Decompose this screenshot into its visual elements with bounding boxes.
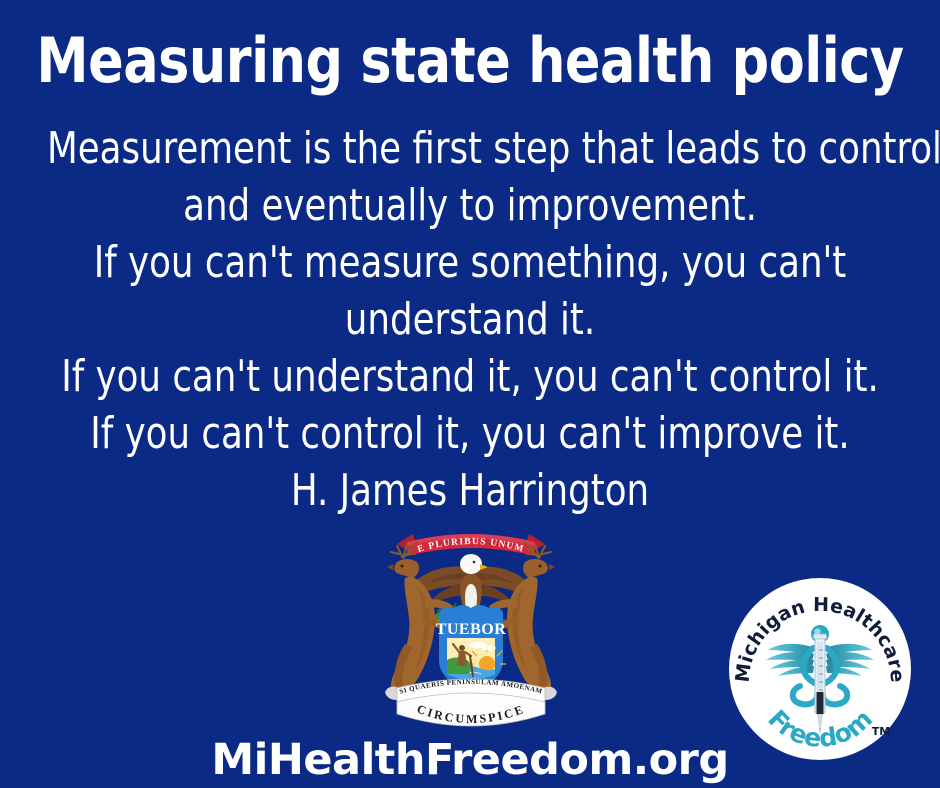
- page-title: Measuring state health policy: [28, 26, 912, 96]
- michigan-state-seal-icon: E PLURIBUS UNUM: [373, 524, 569, 736]
- mhf-logo: Michigan Healthcare: [729, 578, 911, 760]
- quote-line: If you can't control it, you can't impro…: [47, 405, 893, 462]
- svg-text:TUEBOR: TUEBOR: [436, 621, 507, 638]
- quote-line: and eventually to improvement.: [47, 177, 893, 234]
- quote-attribution: H. James Harrington: [47, 462, 893, 519]
- circumspice-scroll: SI QUAERIS PENINSULAM AMOENAM CIRCUMSPIC…: [385, 678, 557, 726]
- quote-line: If you can't understand it, you can't co…: [47, 348, 893, 405]
- website-url[interactable]: MiHealthFreedom.org: [0, 735, 940, 785]
- e-pluribus-unum-banner: E PLURIBUS UNUM: [397, 534, 545, 556]
- quote-line: Measurement is the first step that leads…: [47, 120, 893, 177]
- quote-line: understand it.: [47, 291, 893, 348]
- poster-canvas: Measuring state health policy Measuremen…: [0, 0, 940, 788]
- quote-line: If you can't measure something, you can'…: [47, 234, 893, 291]
- quote-block: Measurement is the first step that leads…: [0, 120, 940, 519]
